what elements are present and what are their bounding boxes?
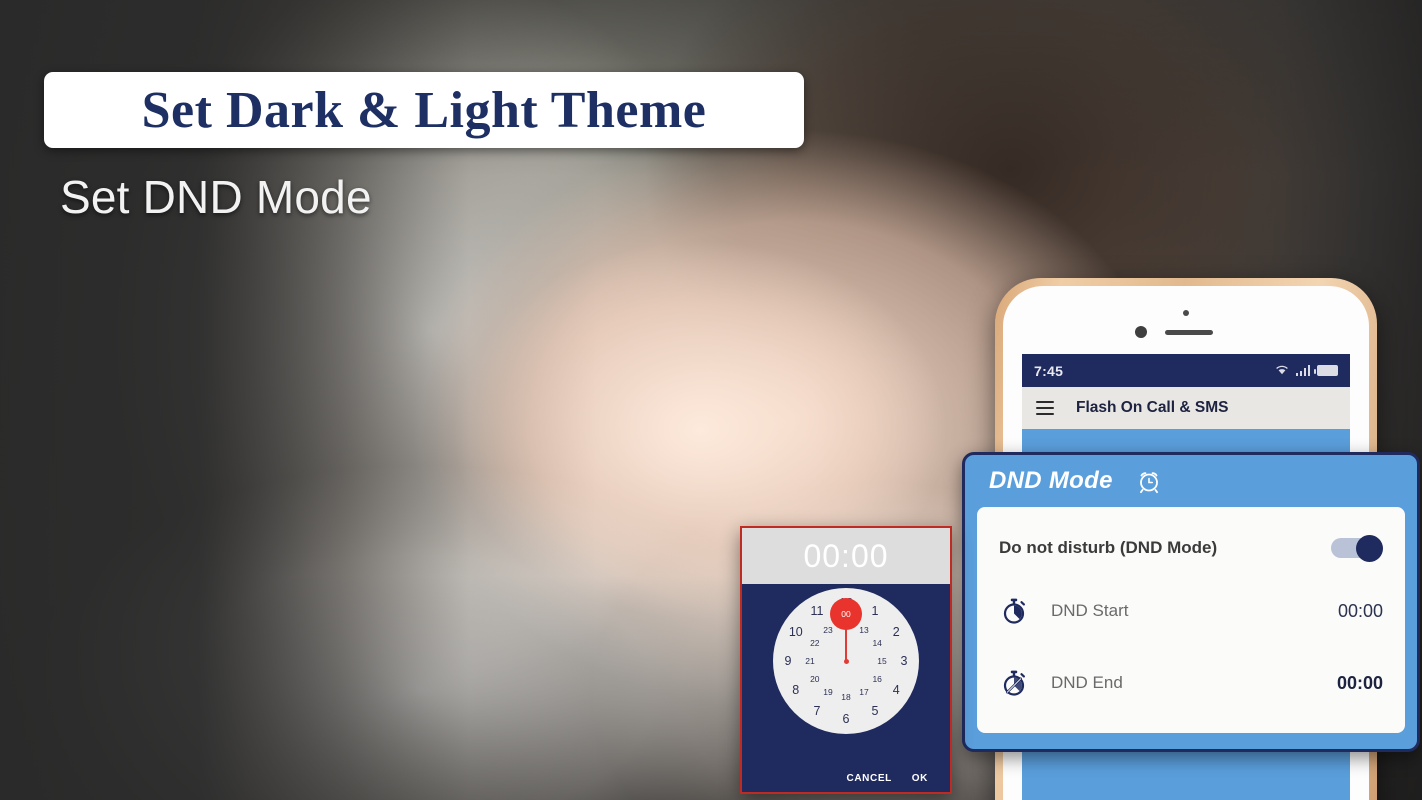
dnd-start-label: DND Start — [1051, 601, 1128, 621]
page-title: Set Dark & Light Theme — [142, 81, 707, 140]
clock-number-inner[interactable]: 13 — [859, 626, 868, 635]
hamburger-icon[interactable] — [1036, 401, 1054, 415]
toggle-knob — [1356, 535, 1383, 562]
dnd-start-value: 00:00 — [1338, 601, 1383, 622]
time-picker-actions: CANCEL OK — [742, 773, 950, 784]
clock-number-inner[interactable]: 17 — [859, 688, 868, 697]
clock-number-inner[interactable]: 18 — [841, 693, 850, 702]
clock-number-inner[interactable]: 16 — [872, 675, 881, 684]
clock-number-outer[interactable]: 10 — [789, 626, 803, 639]
dnd-start-row[interactable]: DND Start 00:00 — [999, 575, 1383, 647]
app-title: Flash On Call & SMS — [1076, 399, 1228, 417]
dnd-toggle-switch[interactable] — [1331, 535, 1383, 561]
time-picker-body: 121234567891011001314151617181920212223 … — [742, 584, 950, 792]
clock-number-outer[interactable]: 7 — [814, 705, 821, 718]
dnd-toggle-row: Do not disturb (DND Mode) — [999, 521, 1383, 575]
status-bar: 7:45 — [1022, 354, 1350, 387]
clock-number-inner[interactable]: 20 — [810, 675, 819, 684]
time-picker-dialog: 00:00 1212345678910110013141516171819202… — [740, 526, 952, 794]
time-picker-display: 00:00 — [803, 538, 888, 575]
clock-number-outer[interactable]: 5 — [872, 705, 879, 718]
dnd-end-label: DND End — [1051, 673, 1123, 693]
signal-icon — [1296, 365, 1311, 376]
stopwatch-icon — [999, 596, 1029, 626]
clock-number-inner[interactable]: 23 — [823, 626, 832, 635]
clock-face[interactable]: 121234567891011001314151617181920212223 … — [773, 588, 919, 734]
clock-number-outer[interactable]: 11 — [811, 605, 824, 618]
page-subtitle: Set DND Mode — [60, 170, 372, 224]
clock-number-inner[interactable]: 22 — [810, 639, 819, 648]
clock-number-outer[interactable]: 4 — [893, 684, 900, 697]
clock-number-inner[interactable]: 19 — [823, 688, 832, 697]
stopwatch-off-icon — [999, 668, 1029, 698]
wifi-icon — [1275, 362, 1289, 380]
clock-selected-value[interactable]: 00 — [830, 598, 862, 630]
clock-number-outer[interactable]: 2 — [893, 626, 900, 639]
phone-camera-icon — [1135, 326, 1147, 338]
dnd-card-body: Do not disturb (DND Mode) DND Start 00:0… — [977, 507, 1405, 733]
status-bar-time: 7:45 — [1034, 363, 1063, 379]
alarm-clock-icon — [1135, 467, 1163, 495]
phone-speaker-grille — [1165, 330, 1213, 335]
phone-sensor-icon — [1183, 310, 1189, 316]
time-picker-header: 00:00 — [742, 528, 950, 584]
dnd-end-value: 00:00 — [1337, 673, 1383, 694]
app-bar: Flash On Call & SMS — [1022, 387, 1350, 429]
clock-number-outer[interactable]: 3 — [901, 655, 908, 668]
dnd-card-header: DND Mode — [965, 455, 1417, 507]
clock-number-outer[interactable]: 8 — [792, 684, 799, 697]
clock-number-outer[interactable]: 1 — [872, 605, 879, 618]
clock-number-inner[interactable]: 15 — [877, 657, 886, 666]
clock-number-outer[interactable]: 9 — [785, 655, 792, 668]
battery-icon — [1317, 365, 1338, 376]
clock-number-inner[interactable]: 14 — [872, 639, 881, 648]
cancel-button[interactable]: CANCEL — [847, 773, 892, 784]
clock-center-dot — [844, 659, 849, 664]
dnd-card-title: DND Mode — [989, 467, 1113, 495]
ok-button[interactable]: OK — [912, 773, 928, 784]
clock-number-inner[interactable]: 21 — [805, 657, 814, 666]
headline-banner: Set Dark & Light Theme — [44, 72, 804, 148]
dnd-end-row[interactable]: DND End 00:00 — [999, 647, 1383, 719]
clock-number-outer[interactable]: 6 — [843, 713, 850, 726]
dnd-mode-card: DND Mode Do not disturb (DND Mode) — [962, 452, 1420, 752]
status-bar-icons — [1275, 362, 1339, 380]
dnd-toggle-label: Do not disturb (DND Mode) — [999, 538, 1217, 558]
